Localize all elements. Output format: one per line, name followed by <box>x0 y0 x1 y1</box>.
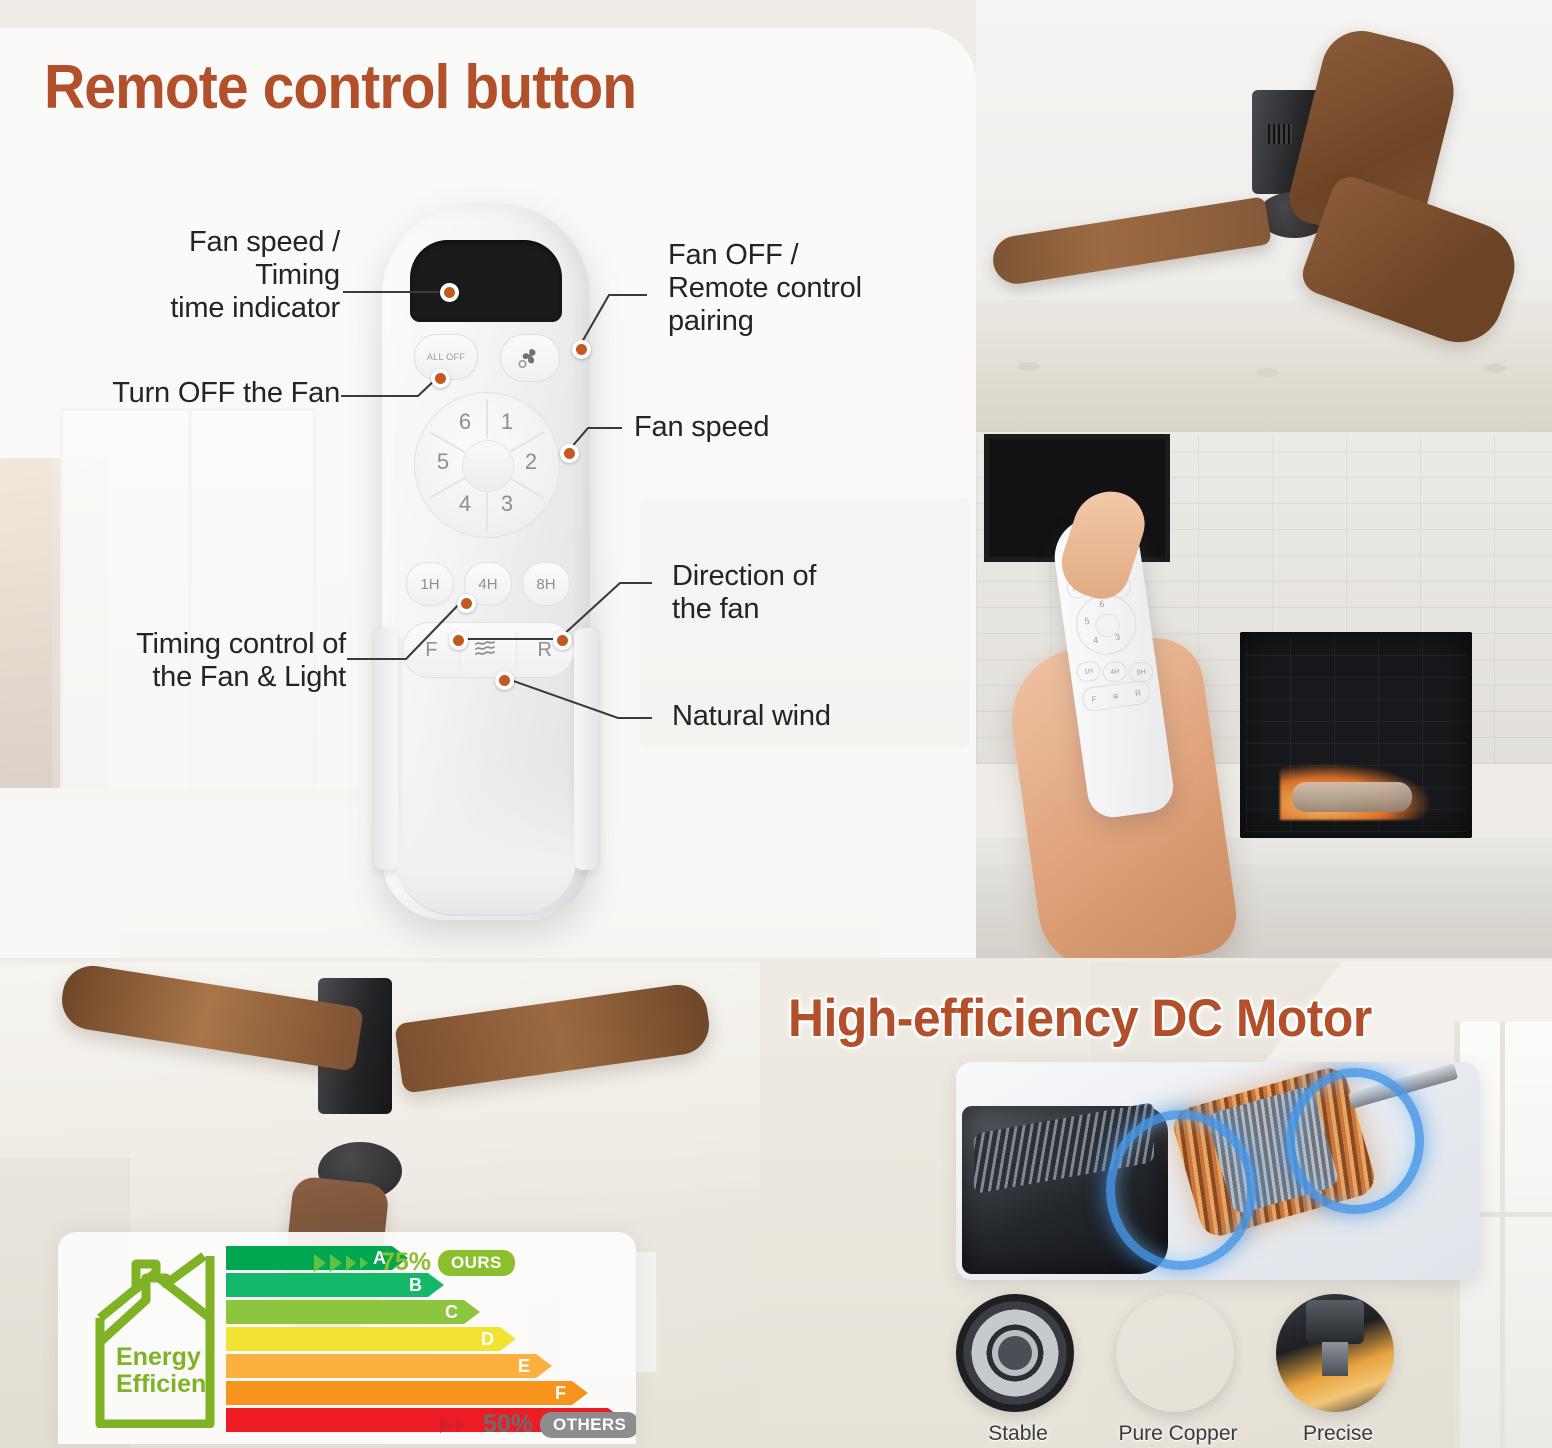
callout-pairing-line3: pairing <box>668 305 958 338</box>
callout-display-line1: Fan speed / <box>60 226 340 259</box>
callout-direction-line2: the fan <box>672 593 942 626</box>
callout-pairing-line1: Fan OFF / <box>668 239 958 272</box>
callout-label-timing-control: Timing control of the Fan & Light <box>30 628 346 694</box>
energy-label-line2: Efficient <box>116 1371 226 1398</box>
callout-label-natural-wind: Natural wind <box>672 700 952 733</box>
dc-motor-title: High-efficiency DC Motor <box>788 988 1372 1049</box>
energy-efficiency-chart: Energy Efficient ABCDEFG 75% OURS 50% OT… <box>58 1232 636 1444</box>
energy-label-line1: Energy <box>116 1344 226 1371</box>
copper-coil-icon <box>1116 1294 1234 1412</box>
energy-bar-f: F <box>226 1381 588 1405</box>
callout-label-turn-off: Turn OFF the Fan <box>40 377 340 410</box>
feature-stable-bearing: Stable Bearing <box>956 1294 1080 1444</box>
ours-percent: 75% <box>381 1248 431 1277</box>
callout-label-pairing: Fan OFF / Remote control pairing <box>668 239 958 338</box>
callout-display-line2: Timing <box>60 259 340 292</box>
ceiling-fan-photo <box>976 0 1552 432</box>
callout-leader-lines <box>0 0 1000 960</box>
fireplace <box>1240 632 1472 838</box>
hand-holding-remote-photo: ALL ✿ 6 5 4 3 1H 4H 8H F≋R <box>976 434 1552 958</box>
callout-timing-line2: the Fan & Light <box>30 661 346 694</box>
energy-efficient-label: Energy Efficient <box>116 1344 226 1397</box>
feature-icons-row: Stable Bearing Pure Copper Wire Precise <box>956 1294 1516 1444</box>
energy-bar-d: D <box>226 1327 516 1351</box>
top-section: Remote control button ALL OFF <box>0 0 1552 958</box>
callout-timing-line1: Timing control of <box>30 628 346 661</box>
energy-bar-e: E <box>226 1354 552 1378</box>
chevrons-right-red-icon <box>438 1414 476 1436</box>
infographic-root: Remote control button ALL OFF <box>0 0 1552 1448</box>
callout-label-direction: Direction of the fan <box>672 560 942 626</box>
callout-dot-timer <box>457 594 476 613</box>
ours-annotation: 75% OURS <box>312 1248 515 1277</box>
feature-label-bearing: Stable Bearing <box>956 1422 1080 1448</box>
feature-label-precise: Precise <box>1276 1422 1400 1446</box>
callout-dot-pairing <box>572 340 591 359</box>
callout-dot-speed <box>560 444 579 463</box>
callout-dot-display <box>440 283 459 302</box>
callout-display-line3: time indicator <box>60 292 340 325</box>
cnc-machining-icon <box>1276 1294 1394 1412</box>
chevrons-right-green-icon <box>312 1252 374 1274</box>
dc-motor-cutaway-image <box>956 1062 1480 1280</box>
ball-bearing-icon <box>956 1294 1074 1412</box>
callout-pairing-line2: Remote control <box>668 272 958 305</box>
others-badge: OTHERS <box>540 1412 636 1438</box>
callout-dot-forward <box>449 631 468 650</box>
callout-label-fan-speed: Fan speed <box>634 411 914 444</box>
callout-direction-line1: Direction of <box>672 560 942 593</box>
feature-copper-wire: Pure Copper Wire <box>1116 1294 1240 1444</box>
others-annotation: 50% OTHERS <box>438 1410 636 1439</box>
others-percent: 50% <box>483 1410 533 1439</box>
ours-badge: OURS <box>438 1250 515 1276</box>
callout-dot-all-off <box>431 369 450 388</box>
callout-label-display: Fan speed / Timing time indicator <box>60 226 340 325</box>
callout-dot-natural-wind <box>495 671 514 690</box>
energy-bar-c: C <box>226 1300 480 1324</box>
feature-precise: Precise <box>1276 1294 1400 1444</box>
callout-dot-direction <box>553 631 572 650</box>
feature-label-copper: Pure Copper Wire <box>1116 1422 1240 1448</box>
